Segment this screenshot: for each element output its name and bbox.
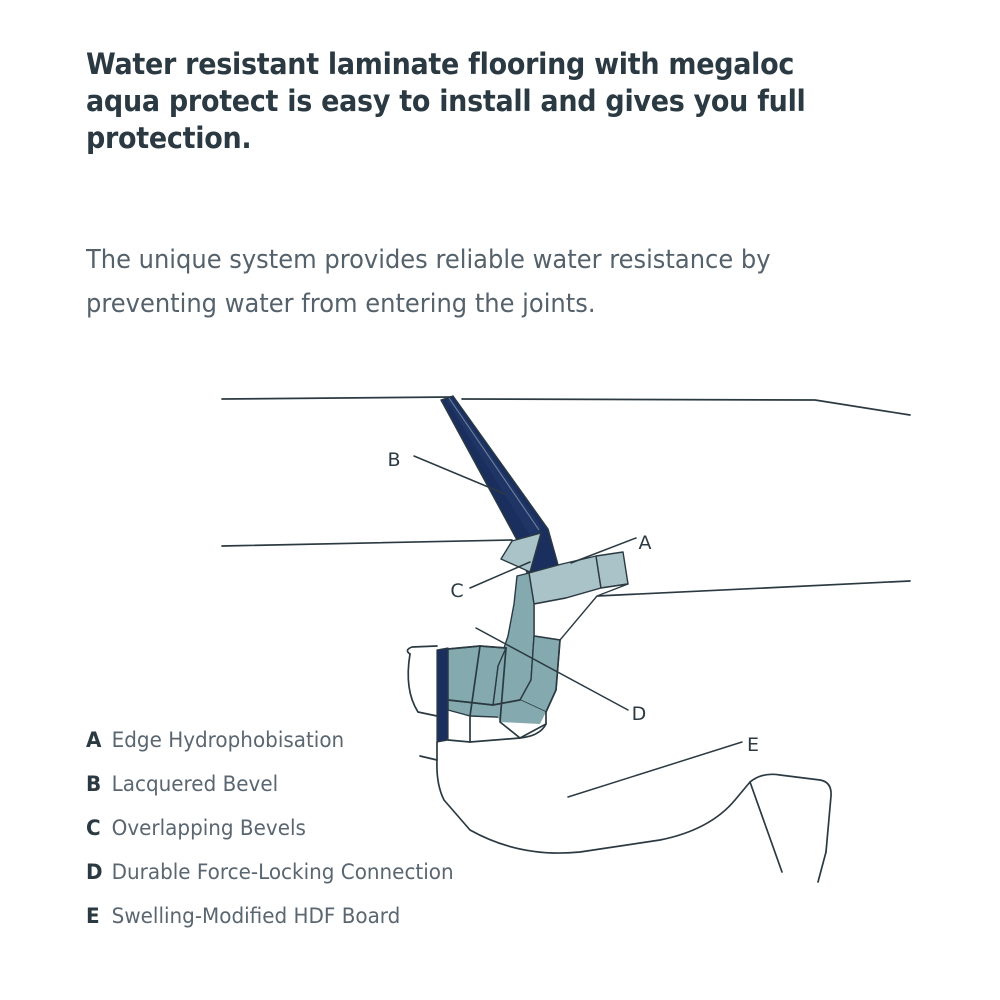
callout-letters: B A C D E xyxy=(387,449,759,756)
locking-tongue-vertical xyxy=(493,573,534,705)
leader-line-a xyxy=(571,538,636,563)
hdf-board-inner-fold-a xyxy=(750,782,782,872)
legend-item-b: B Lacquered Bevel xyxy=(86,772,580,816)
callout-letter-e: E xyxy=(747,734,759,756)
force-lock-fill-left xyxy=(448,646,506,707)
force-lock-fill-bottom xyxy=(448,700,546,718)
callout-letter-a: A xyxy=(639,532,652,554)
groove-top-edge xyxy=(448,646,506,649)
legend-item-a: A Edge Hydrophobisation xyxy=(86,728,580,772)
legend-key-b: B xyxy=(86,772,105,796)
legend-key-c: C xyxy=(86,816,105,840)
diagram-legend: A Edge Hydrophobisation B Lacquered Beve… xyxy=(86,728,606,948)
groove-mid-edge xyxy=(448,700,520,705)
joint-facet-white xyxy=(534,584,628,640)
force-lock-fill-joint xyxy=(493,700,546,724)
page-root: Water resistant laminate flooring with m… xyxy=(0,0,1000,1000)
leader-line-d xyxy=(476,628,628,710)
legend-label-a: Edge Hydrophobisation xyxy=(112,728,345,752)
legend-key-a: A xyxy=(86,728,105,752)
bevel-crease-line xyxy=(449,398,539,530)
tongue-right-edge xyxy=(546,640,560,712)
callout-letter-c: C xyxy=(450,580,463,602)
locking-tongue-shape xyxy=(493,573,560,712)
intro-text-block: Water resistant laminate flooring with m… xyxy=(86,46,926,157)
diagram-outlines xyxy=(222,397,910,596)
locking-tongue-right-face xyxy=(520,636,560,712)
lock-hook-top xyxy=(407,646,437,654)
legend-key-d: D xyxy=(86,860,105,884)
edge-hydrophobisation-shape xyxy=(529,552,628,640)
edge-hydrophobisation-band-right xyxy=(596,552,628,588)
legend-label-b: Lacquered Bevel xyxy=(112,772,279,796)
legend-item-c: C Overlapping Bevels xyxy=(86,816,580,860)
legend-label-c: Overlapping Bevels xyxy=(112,816,306,840)
legend-item-e: E Swelling-Modified HDF Board xyxy=(86,904,580,948)
legend-label-d: Durable Force-Locking Connection xyxy=(112,860,454,884)
bevel-teal-wedge xyxy=(501,533,541,572)
callout-letter-b: B xyxy=(387,449,400,471)
overlapping-bevel-shape xyxy=(501,533,541,572)
top-surface-left-line xyxy=(222,397,452,399)
top-surface-right-line xyxy=(462,399,910,415)
legend-item-d: D Durable Force-Locking Connection xyxy=(86,860,580,904)
left-plank-underside-line xyxy=(222,540,512,546)
legend-key-e: E xyxy=(86,904,105,928)
force-locking-block xyxy=(448,646,546,724)
lacquered-bevel-shape xyxy=(441,396,560,573)
groove-vertical-b xyxy=(500,648,520,738)
legend-label-e: Swelling-Modified HDF Board xyxy=(112,904,401,928)
leader-line-c xyxy=(470,562,530,588)
leader-line-b xyxy=(414,456,505,494)
right-plank-underside-line xyxy=(597,581,910,596)
lock-hook-left xyxy=(408,654,437,716)
hdf-board-inner-fold-b xyxy=(818,852,826,882)
callout-letter-d: D xyxy=(632,703,647,725)
bevel-navy-highlight xyxy=(447,397,541,545)
bevel-navy-body xyxy=(441,396,560,573)
page-subcopy: The unique system provides reliable wate… xyxy=(86,238,904,326)
page-title: Water resistant laminate flooring with m… xyxy=(86,46,867,157)
edge-hydrophobisation-band xyxy=(529,556,601,604)
